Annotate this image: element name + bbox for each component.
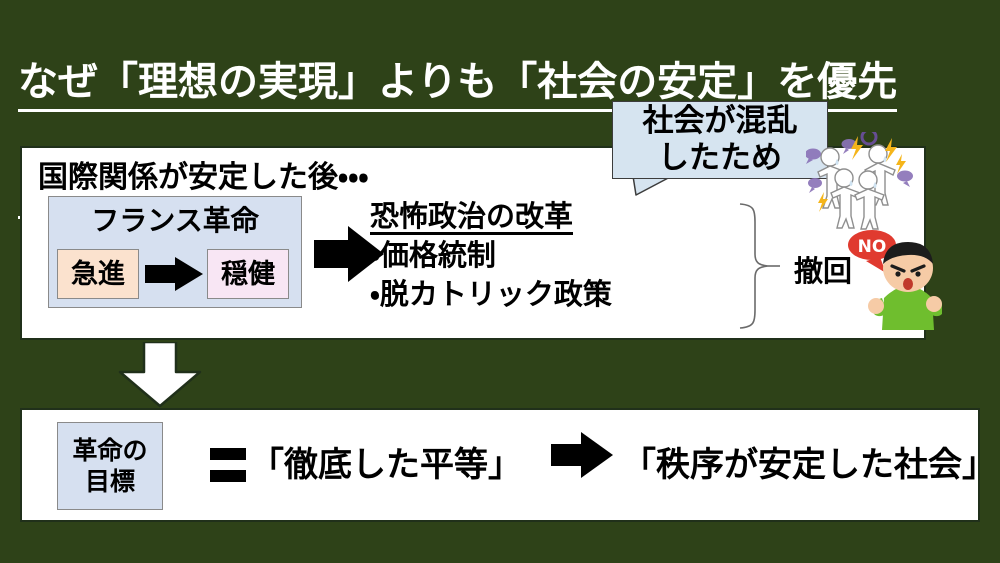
withdraw-label: 撤回	[794, 248, 852, 290]
reform-title: 恐怖政治の改革	[370, 200, 573, 235]
arrow-right-icon-small	[145, 257, 203, 291]
slide-canvas: なぜ「理想の実現」よりも「社会の安定」を優先 するようになったのか？ 国際関係が…	[0, 0, 1000, 563]
curly-brace-icon	[738, 202, 780, 330]
chip-moderate: 穏健	[207, 249, 289, 299]
arrow-right-icon-goal	[551, 432, 613, 478]
reform-block: 恐怖政治の改革 ・価格統制 ・脱カトリック政策	[370, 200, 612, 312]
france-revolution-label: フランス革命	[49, 199, 301, 239]
goal-after-text: 「秩序が安定した社会」	[622, 437, 996, 486]
revolution-goal-box: 革命の 目標	[57, 422, 163, 510]
france-revolution-box: フランス革命 急進 穏健	[48, 196, 302, 308]
panicking-crowd-icon	[806, 132, 914, 230]
goal-panel: 革命の 目標 「徹底した平等」 「秩序が安定した社会」	[20, 408, 980, 522]
panel-heading: 国際関係が安定した後・・・	[38, 152, 369, 196]
arrow-shaft	[551, 444, 584, 466]
speech-bubble: 社会が混乱 したため	[612, 101, 828, 195]
goal-before-text: 「徹底した平等」	[250, 437, 522, 486]
chip-radical: 急進	[57, 249, 139, 299]
no-bubble-text: NO	[858, 237, 887, 257]
angry-person-no-icon: NO	[846, 228, 942, 332]
arrow-head	[581, 432, 613, 478]
arrow-shaft	[145, 265, 178, 283]
arrow-down-icon	[110, 342, 210, 408]
reform-item-2: ・脱カトリック政策	[370, 276, 612, 312]
speech-bubble-text: 社会が混乱 したため	[612, 103, 828, 176]
reform-item-1: ・価格統制	[370, 237, 612, 273]
equals-icon	[210, 448, 246, 482]
arrow-shaft	[314, 240, 352, 268]
equals-bar-top	[210, 448, 246, 460]
equals-bar-bottom	[210, 470, 246, 482]
arrow-head	[175, 257, 203, 291]
